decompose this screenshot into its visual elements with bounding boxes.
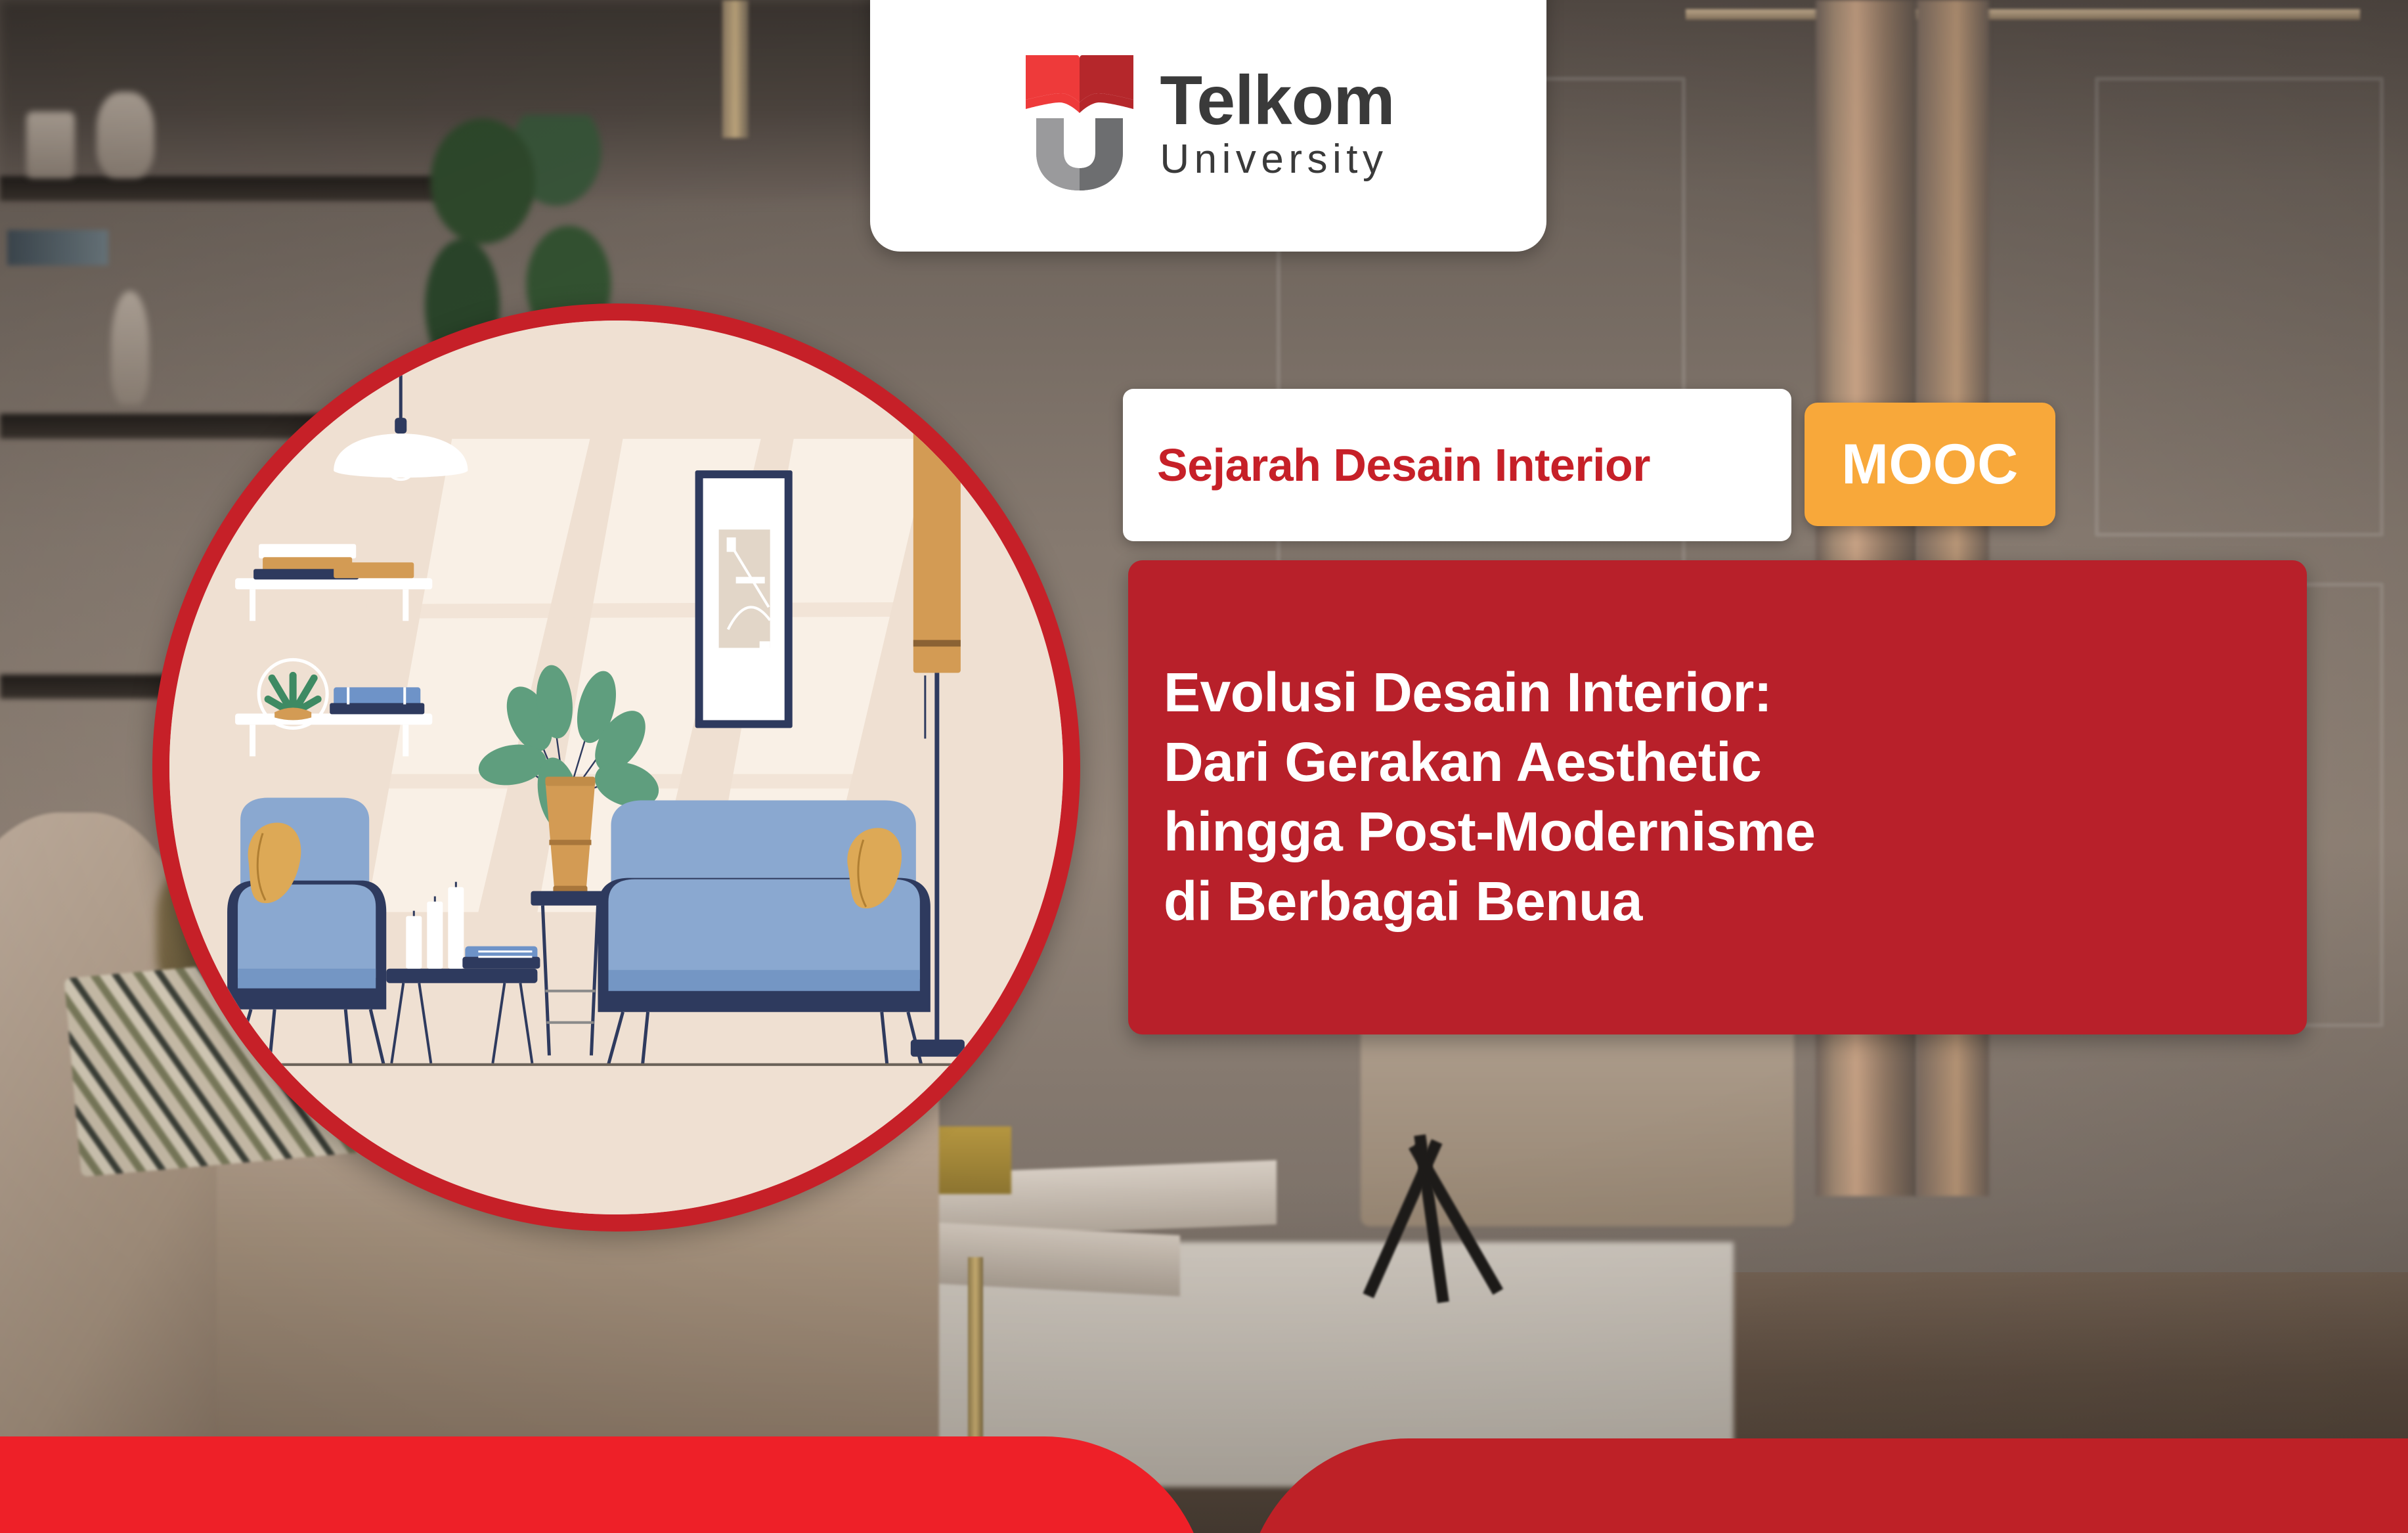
course-title: Evolusi Desain Interior: Dari Gerakan Ae… xyxy=(1164,658,1815,936)
course-category-card: Sejarah Desain Interior xyxy=(1123,389,1791,541)
logo-word-university: University xyxy=(1160,139,1394,180)
mooc-badge: MOOC xyxy=(1805,403,2055,526)
telkom-university-logo-card: Telkom University xyxy=(870,0,1546,252)
logo-word-telkom: Telkom xyxy=(1160,66,1394,135)
living-room-illustration xyxy=(152,303,1080,1232)
course-category-label: Sejarah Desain Interior xyxy=(1157,439,1650,491)
course-title-card: Evolusi Desain Interior: Dari Gerakan Ae… xyxy=(1128,560,2307,1034)
telkom-university-logo-icon xyxy=(1022,53,1137,193)
telkom-wordmark: Telkom University xyxy=(1160,66,1394,180)
bottom-decor-shape-right xyxy=(1244,1438,2408,1533)
bottom-decor-shape-left xyxy=(0,1436,1208,1533)
mooc-badge-label: MOOC xyxy=(1841,432,2019,497)
